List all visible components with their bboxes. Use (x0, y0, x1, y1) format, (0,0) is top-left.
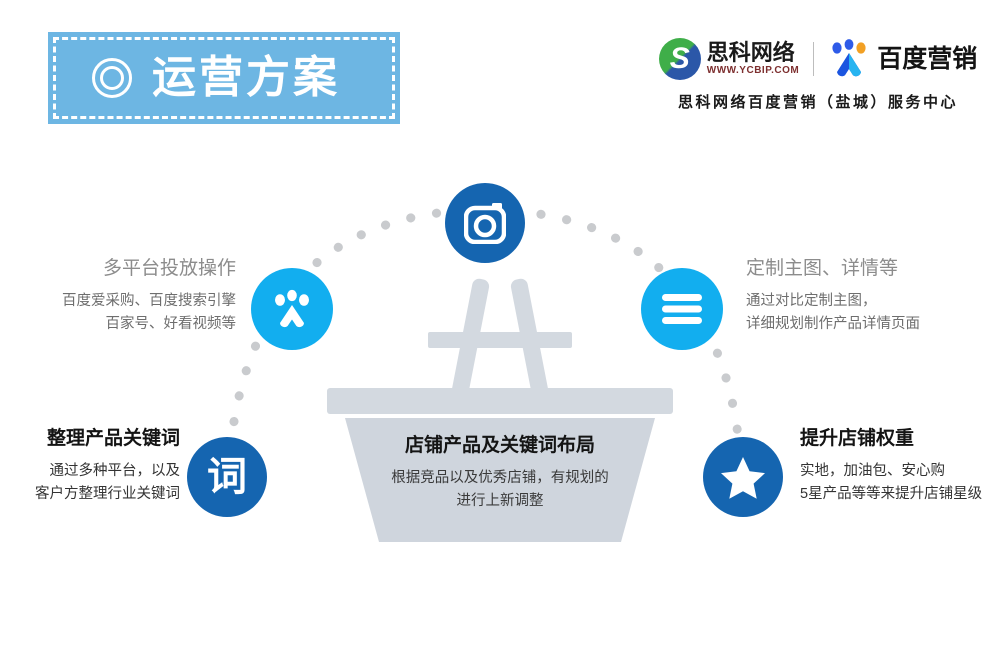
text-block-right: 定制主图、详情等 通过对比定制主图， 详细规划制作产品详情页面 (746, 258, 996, 337)
node-bottom-right[interactable] (703, 437, 783, 517)
star-icon (720, 455, 766, 499)
sicko-logo: S 思科网络 WWW.YCBIP.COM (659, 38, 799, 80)
double-ring-icon (92, 58, 132, 98)
text-block-bottom-right-line-2: 5星产品等等来提升店铺星级 (800, 483, 996, 506)
text-block-left-line-1: 百度爱采购、百度搜索引擎 (28, 290, 236, 313)
baidu-paw-icon (828, 39, 870, 79)
node-left[interactable] (251, 268, 333, 350)
node-top[interactable] (445, 183, 525, 263)
logo-caption: 思科网络百度营销（盐城）服务中心 (658, 91, 978, 112)
text-block-center: 店铺产品及关键词布局 根据竞品以及优秀店铺，有规划的 进行上新调整 (330, 435, 670, 514)
text-block-right-line-2: 详细规划制作产品详情页面 (746, 313, 996, 336)
text-block-bottom-left-head: 整理产品关键词 (14, 428, 180, 451)
node-right[interactable] (641, 268, 723, 350)
text-block-bottom-left-line-2: 客户方整理行业关键词 (14, 483, 180, 506)
text-block-left-head: 多平台投放操作 (28, 258, 236, 281)
text-block-bottom-right-head: 提升店铺权重 (800, 428, 996, 451)
hamburger-menu-icon (660, 292, 704, 326)
text-block-left: 多平台投放操作 百度爱采购、百度搜索引擎 百家号、好看视频等 (28, 258, 236, 337)
text-block-left-line-2: 百家号、好看视频等 (28, 313, 236, 336)
basket-rim (327, 388, 673, 414)
baidu-paw-svg (828, 39, 870, 79)
sicko-s-mark-icon: S (659, 38, 701, 80)
text-block-bottom-left: 整理产品关键词 通过多种平台，以及 客户方整理行业关键词 (14, 428, 180, 507)
page-title-banner: 运营方案 (48, 32, 400, 124)
baidu-name-cn: 百度营销 (877, 47, 977, 72)
camera-icon (464, 202, 506, 244)
page-title: 运营方案 (152, 56, 340, 100)
sicko-name-cn: 思科网络 (707, 42, 799, 64)
baidu-logo: 百度营销 (828, 39, 977, 79)
text-block-bottom-right: 提升店铺权重 实地，加油包、安心购 5星产品等等来提升店铺星级 (800, 428, 996, 507)
text-block-bottom-left-line-1: 通过多种平台，以及 (14, 460, 180, 483)
text-block-center-line-2: 进行上新调整 (330, 490, 670, 513)
logo-row: S 思科网络 WWW.YCBIP.COM 百度营销 (658, 36, 978, 82)
text-block-right-line-1: 通过对比定制主图， (746, 290, 996, 313)
baidu-paw-icon (270, 288, 314, 330)
sicko-wordmark: 思科网络 WWW.YCBIP.COM (707, 42, 799, 76)
text-block-right-head: 定制主图、详情等 (746, 258, 996, 281)
text-block-center-head: 店铺产品及关键词布局 (330, 435, 670, 458)
node-bottom-left[interactable]: 词 (187, 437, 267, 517)
basket-handle-bridge (428, 332, 572, 348)
logo-block: S 思科网络 WWW.YCBIP.COM 百度营销 思科网络百度营销（盐城）服务… (658, 36, 978, 112)
process-diagram: 词 多平台投放操作 百度爱采购、百度搜索引擎 百家号、好看视频等 定制主图、详情… (0, 150, 1000, 570)
sicko-url: WWW.YCBIP.COM (707, 66, 799, 76)
logo-divider (813, 42, 814, 76)
sicko-s-glyph: S (659, 38, 701, 80)
text-block-center-line-1: 根据竞品以及优秀店铺，有规划的 (330, 467, 670, 490)
text-block-bottom-right-line-1: 实地，加油包、安心购 (800, 460, 996, 483)
keyword-char-icon: 词 (207, 457, 247, 497)
